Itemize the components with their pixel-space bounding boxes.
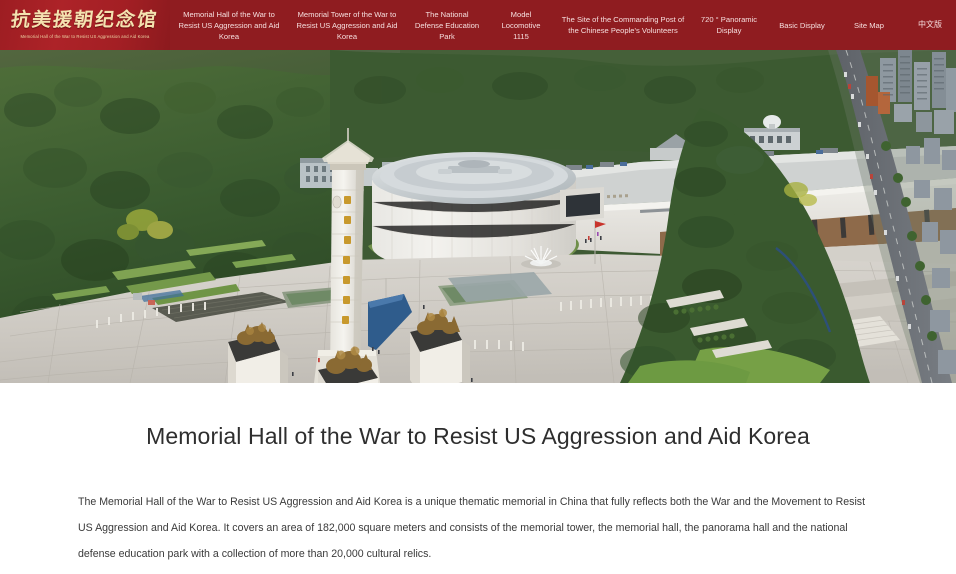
nav-item-memorial-tower[interactable]: Memorial Tower of the War to Resist US A… [288,0,406,50]
nav-item-commanding-post-site[interactable]: The Site of the Commanding Post of the C… [554,0,692,50]
nav-item-memorial-hall[interactable]: Memorial Hall of the War to Resist US Ag… [170,0,288,50]
site-logo-chinese-text: 抗美援朝纪念馆 [10,11,159,30]
nav-item-basic-display[interactable]: Basic Display [766,0,838,50]
page-title: Memorial Hall of the War to Resist US Ag… [0,423,956,450]
nav-item-defense-education-park[interactable]: The National Defense Education Park [406,0,488,50]
top-navigation-bar: 抗美援朝纪念馆 Memorial Hall of the War to Resi… [0,0,956,50]
hero-aerial-photo [0,50,956,383]
nav-item-model-locomotive[interactable]: Model Locomotive 1115 [488,0,554,50]
nav-item-panoramic-display[interactable]: 720 ° Panoramic Display [692,0,766,50]
nav-item-site-map[interactable]: Site Map [838,0,900,50]
intro-paragraph: The Memorial Hall of the War to Resist U… [78,490,878,568]
main-content: Memorial Hall of the War to Resist US Ag… [0,383,956,568]
hero-banner: Home>Memorial Hall of the War to Resist … [0,50,956,383]
site-logo-english-text: Memorial Hall of the War to Resist US Ag… [20,34,149,39]
nav-item-list: Memorial Hall of the War to Resist US Ag… [170,0,956,50]
site-logo[interactable]: 抗美援朝纪念馆 Memorial Hall of the War to Resi… [0,0,170,50]
nav-item-chinese-version[interactable]: 中文版 [900,0,956,50]
panorama-hall [368,152,579,272]
